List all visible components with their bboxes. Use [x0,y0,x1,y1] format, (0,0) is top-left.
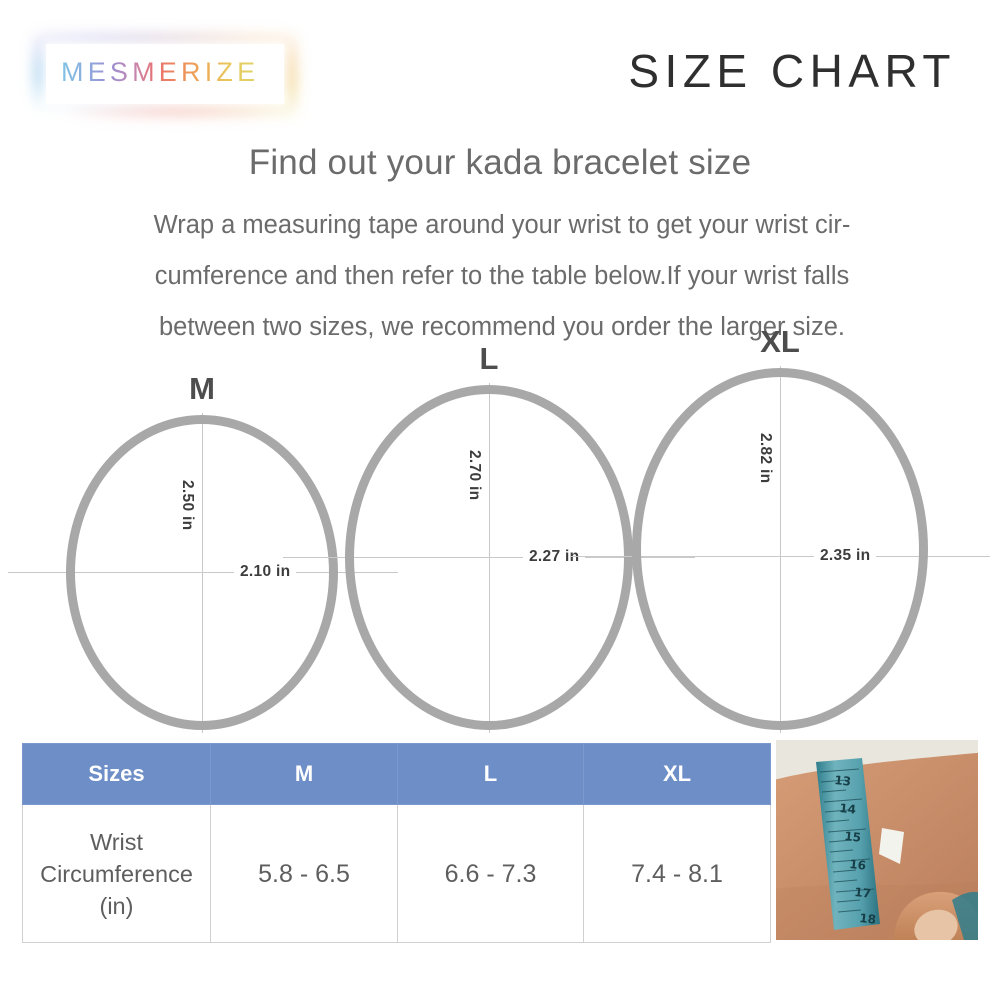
table-header-sizes: Sizes [23,744,211,805]
oval-l-ring [345,385,633,730]
table-header-l: L [398,744,584,805]
svg-text:16: 16 [849,857,867,873]
oval-l-label: L [480,341,499,377]
intro-line-2: cumference and then refer to the table b… [52,251,952,302]
svg-text:13: 13 [834,773,852,789]
oval-xl-label: XL [760,324,800,360]
page-title: SIZE CHART [628,44,956,98]
svg-text:17: 17 [854,885,872,901]
oval-xl-height-dimension: 2.82 in [756,430,774,486]
oval-m-height-dimension: 2.50 in [178,477,196,533]
oval-l-height-dimension: 2.70 in [465,447,483,503]
row-label-wrist-circumference: Wrist Circumference (in) [23,805,211,943]
svg-text:15: 15 [844,829,862,845]
oval-group-l: L 2.70 in 2.27 in [345,385,633,730]
table-header-row: Sizes M L XL [23,744,771,805]
size-table: Sizes M L XL Wrist Circumference (in) 5.… [22,743,771,943]
oval-m-label: M [189,371,215,407]
table-row: Wrist Circumference (in) 5.8 - 6.5 6.6 -… [23,805,771,943]
cell-wrist-circumference-m: 5.8 - 6.5 [211,805,398,943]
cell-wrist-circumference-l: 6.6 - 7.3 [398,805,584,943]
headline: Find out your kada bracelet size [0,143,1000,183]
wrist-photo-illustration: 13 14 15 16 17 18 [776,740,978,940]
row-label-line-3: (in) [24,890,209,922]
svg-text:14: 14 [839,801,857,817]
oval-group-m: M 2.50 in 2.10 in [66,415,338,730]
wrist-measurement-photo: 13 14 15 16 17 18 [776,740,978,940]
oval-m-ring [66,415,338,730]
oval-group-xl: XL 2.82 in 2.35 in [632,368,928,730]
oval-m-width-dimension: 2.10 in [234,563,296,581]
row-label-line-1: Wrist [24,826,209,858]
oval-xl-ring [632,368,928,730]
row-label-line-2: Circumference [24,858,209,890]
oval-diagrams: M 2.50 in 2.10 in L 2.70 in 2.27 in XL 2… [0,340,1000,740]
intro-paragraph: Wrap a measuring tape around your wrist … [52,200,952,353]
svg-text:18: 18 [859,911,877,927]
table-header-xl: XL [584,744,771,805]
oval-xl-width-dimension: 2.35 in [814,547,876,565]
table-header-m: M [211,744,398,805]
oval-l-width-dimension: 2.27 in [523,548,585,566]
brand-wordmark: MESMERIZE [61,57,259,88]
brand-logo: MESMERIZE [46,44,284,104]
cell-wrist-circumference-xl: 7.4 - 8.1 [584,805,771,943]
intro-line-1: Wrap a measuring tape around your wrist … [52,200,952,251]
